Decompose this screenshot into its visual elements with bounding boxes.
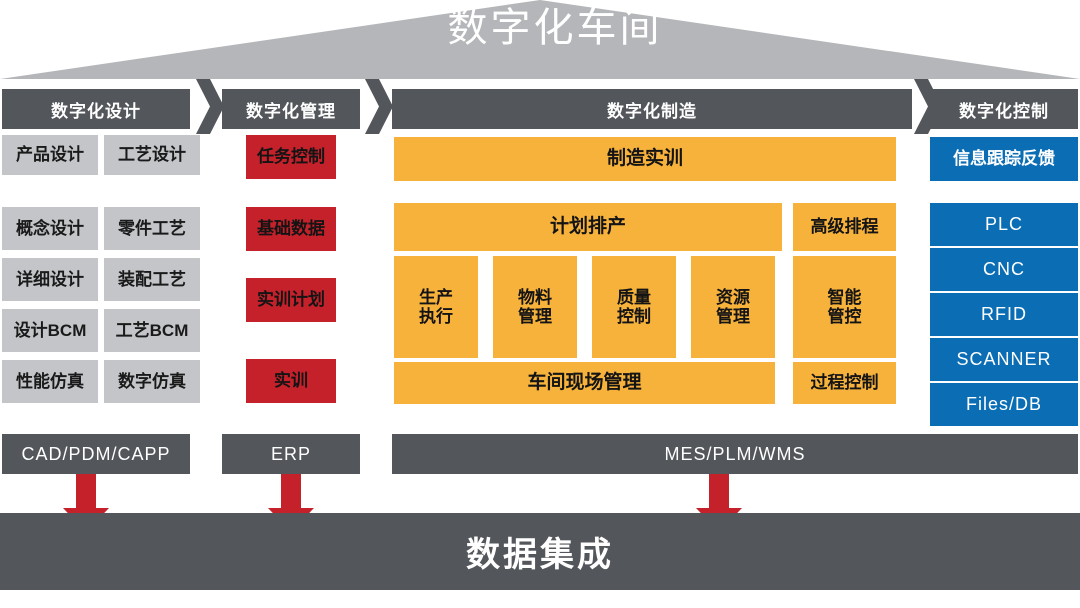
control-device-scanner[interactable]: SCANNER: [930, 338, 1078, 381]
digital-workshop-diagram: 数字化车间 数字化设计 数字化管理 数字化制造 数字化控制 产品设计 工艺设计 …: [0, 0, 1080, 608]
management-cell-training[interactable]: 实训: [246, 359, 336, 403]
manufacturing-module-material-management[interactable]: 物料 管理: [493, 256, 577, 358]
manufacturing-smart-control[interactable]: 智能 管控: [793, 256, 896, 358]
header-digital-management[interactable]: 数字化管理: [222, 89, 360, 129]
control-device-rfid[interactable]: RFID: [930, 293, 1078, 336]
header-digital-design[interactable]: 数字化设计: [2, 89, 190, 129]
design-cell-performance-sim[interactable]: 性能仿真: [2, 360, 98, 403]
header-digital-manufacturing[interactable]: 数字化制造: [392, 89, 912, 129]
platform-erp[interactable]: ERP: [222, 434, 360, 474]
design-cell-concept-design[interactable]: 概念设计: [2, 207, 98, 250]
design-cell-process-bcm[interactable]: 工艺BCM: [104, 309, 200, 352]
manufacturing-module-resource-management[interactable]: 资源 管理: [691, 256, 775, 358]
design-cell-process-design[interactable]: 工艺设计: [104, 135, 200, 175]
foundation-bar[interactable]: 数据集成: [0, 513, 1080, 590]
control-feedback-bar[interactable]: 信息跟踪反馈: [930, 137, 1078, 181]
management-cell-task-control[interactable]: 任务控制: [246, 135, 336, 179]
foundation-label: 数据集成: [466, 527, 614, 576]
header-digital-control[interactable]: 数字化控制: [930, 89, 1078, 129]
manufacturing-planning-bar[interactable]: 计划排产: [394, 203, 782, 251]
manufacturing-advanced-scheduling[interactable]: 高级排程: [793, 203, 896, 251]
management-cell-basic-data[interactable]: 基础数据: [246, 207, 336, 251]
manufacturing-training-bar[interactable]: 制造实训: [394, 137, 896, 181]
design-cell-detail-design[interactable]: 详细设计: [2, 258, 98, 301]
page-title: 数字化车间: [0, 8, 1080, 48]
manufacturing-shopfloor-management[interactable]: 车间现场管理: [394, 362, 775, 404]
control-device-plc[interactable]: PLC: [930, 203, 1078, 246]
manufacturing-module-production-execution[interactable]: 生产 执行: [394, 256, 478, 358]
manufacturing-module-quality-control[interactable]: 质量 控制: [592, 256, 676, 358]
design-cell-design-bcm[interactable]: 设计BCM: [2, 309, 98, 352]
platform-cad-pdm-capp[interactable]: CAD/PDM/CAPP: [2, 434, 190, 474]
chevron-right-icon-1: [196, 79, 224, 134]
platform-mes-plm-wms[interactable]: MES/PLM/WMS: [392, 434, 1078, 474]
design-cell-part-process[interactable]: 零件工艺: [104, 207, 200, 250]
control-device-files-db[interactable]: Files/DB: [930, 383, 1078, 426]
design-cell-product-design[interactable]: 产品设计: [2, 135, 98, 175]
chevron-right-icon-2: [365, 79, 393, 134]
design-cell-digital-sim[interactable]: 数字仿真: [104, 360, 200, 403]
design-cell-assembly-process[interactable]: 装配工艺: [104, 258, 200, 301]
management-cell-training-plan[interactable]: 实训计划: [246, 278, 336, 322]
manufacturing-process-control[interactable]: 过程控制: [793, 362, 896, 404]
control-device-cnc[interactable]: CNC: [930, 248, 1078, 291]
